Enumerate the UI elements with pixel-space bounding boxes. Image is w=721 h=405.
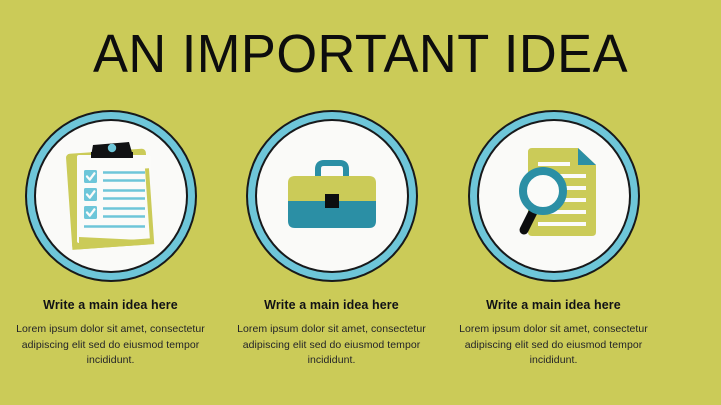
icon-badge-1[interactable] — [25, 110, 197, 282]
badge-disc — [257, 121, 407, 271]
icon-badge-3[interactable] — [468, 110, 640, 282]
badge-disc — [479, 121, 629, 271]
content-column-1: Write a main idea here Lorem ipsum dolor… — [0, 110, 221, 369]
slide-canvas: AN IMPORTANT IDEA — [0, 0, 721, 405]
caption-3: Write a main idea here Lorem ipsum dolor… — [443, 297, 664, 369]
caption-body: Lorem ipsum dolor sit amet, consectetur … — [453, 322, 654, 369]
content-column-2: Write a main idea here Lorem ipsum dolor… — [221, 110, 442, 369]
caption-body: Lorem ipsum dolor sit amet, consectetur … — [10, 322, 211, 369]
caption-1: Write a main idea here Lorem ipsum dolor… — [0, 297, 221, 369]
clipboard-checklist-icon — [36, 121, 186, 271]
document-magnifier-icon — [479, 121, 629, 271]
caption-heading: Write a main idea here — [231, 297, 432, 313]
content-column-3: Write a main idea here Lorem ipsum dolor… — [443, 110, 664, 369]
caption-heading: Write a main idea here — [453, 297, 654, 313]
caption-2: Write a main idea here Lorem ipsum dolor… — [221, 297, 442, 369]
caption-heading: Write a main idea here — [10, 297, 211, 313]
caption-body: Lorem ipsum dolor sit amet, consectetur … — [231, 322, 432, 369]
briefcase-icon — [257, 121, 407, 271]
icon-badge-2[interactable] — [246, 110, 418, 282]
badge-disc — [36, 121, 186, 271]
page-title: AN IMPORTANT IDEA — [11, 24, 710, 84]
